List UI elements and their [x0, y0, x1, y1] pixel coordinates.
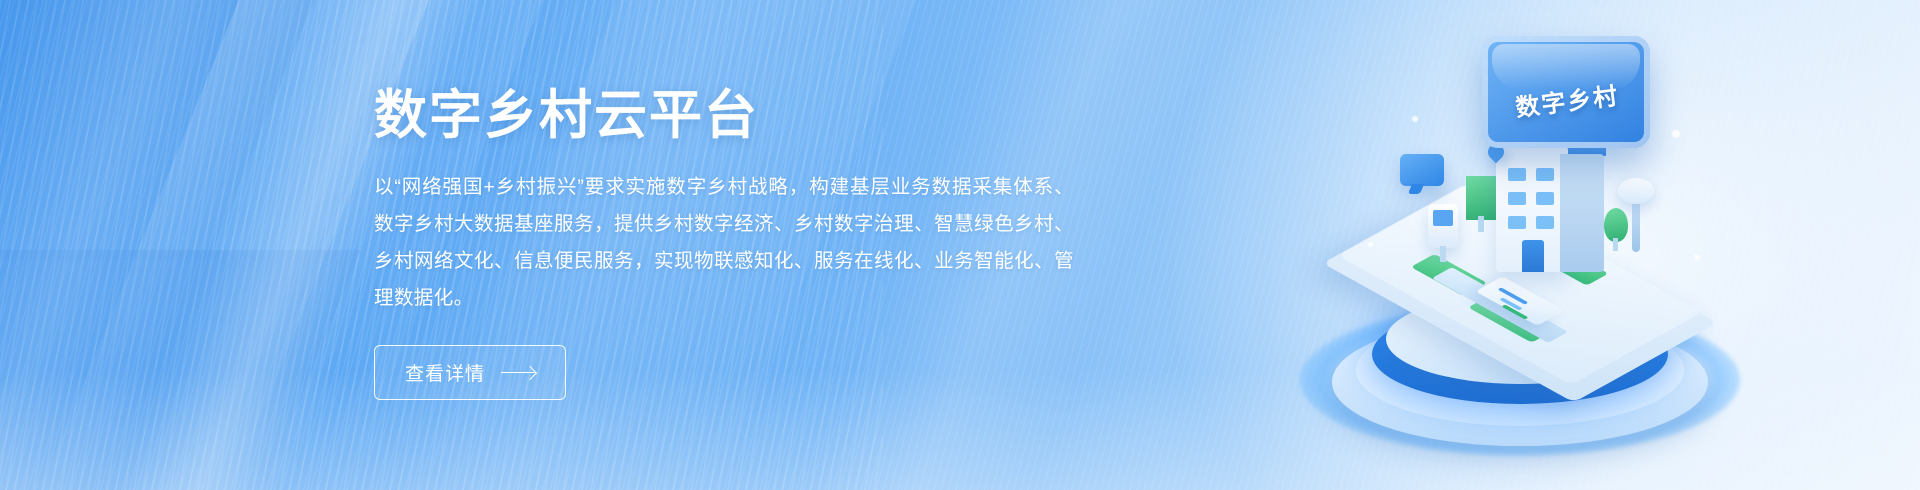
tree-2 — [1604, 208, 1628, 242]
building-window — [1508, 192, 1526, 205]
building-side — [1560, 154, 1604, 272]
kiosk-screen — [1433, 210, 1453, 226]
building-window — [1508, 216, 1526, 229]
sparkle — [1368, 242, 1373, 247]
hero-copy: 数字乡村云平台 以“网络强国+乡村振兴”要求实施数字乡村战略，构建基层业务数据采… — [374, 86, 1094, 400]
hero-description: 以“网络强国+乡村振兴”要求实施数字乡村战略，构建基层业务数据采集体系、数字乡村… — [374, 169, 1074, 317]
view-details-button[interactable]: 查看详情 — [374, 345, 566, 400]
sparkle — [1694, 254, 1700, 260]
floating-card — [1400, 154, 1444, 186]
building-window — [1536, 168, 1554, 181]
tree-1-trunk — [1478, 216, 1484, 232]
building-window — [1536, 192, 1554, 205]
building-window — [1508, 168, 1526, 181]
bg-plate-3 — [0, 250, 361, 490]
arrow-right-icon — [501, 367, 535, 379]
building-door — [1522, 240, 1544, 272]
floating-card-tail — [1408, 184, 1424, 194]
light-sweep-1 — [0, 0, 389, 490]
tree-1 — [1466, 176, 1496, 220]
digital-village-3d-illustration: 数字乡村 — [1260, 18, 1780, 478]
page-title: 数字乡村云平台 — [374, 86, 1094, 145]
building-window — [1536, 216, 1554, 229]
hero-banner: 数字乡村云平台 以“网络强国+乡村振兴”要求实施数字乡村战略，构建基层业务数据采… — [0, 0, 1920, 490]
tree-2-trunk — [1613, 238, 1618, 251]
bg-plate-1 — [0, 0, 331, 260]
sparkle — [1412, 116, 1418, 122]
kiosk-pole — [1440, 246, 1446, 262]
street-lamp-head — [1618, 178, 1654, 204]
sparkle — [1672, 130, 1680, 138]
view-details-label: 查看详情 — [405, 359, 485, 386]
